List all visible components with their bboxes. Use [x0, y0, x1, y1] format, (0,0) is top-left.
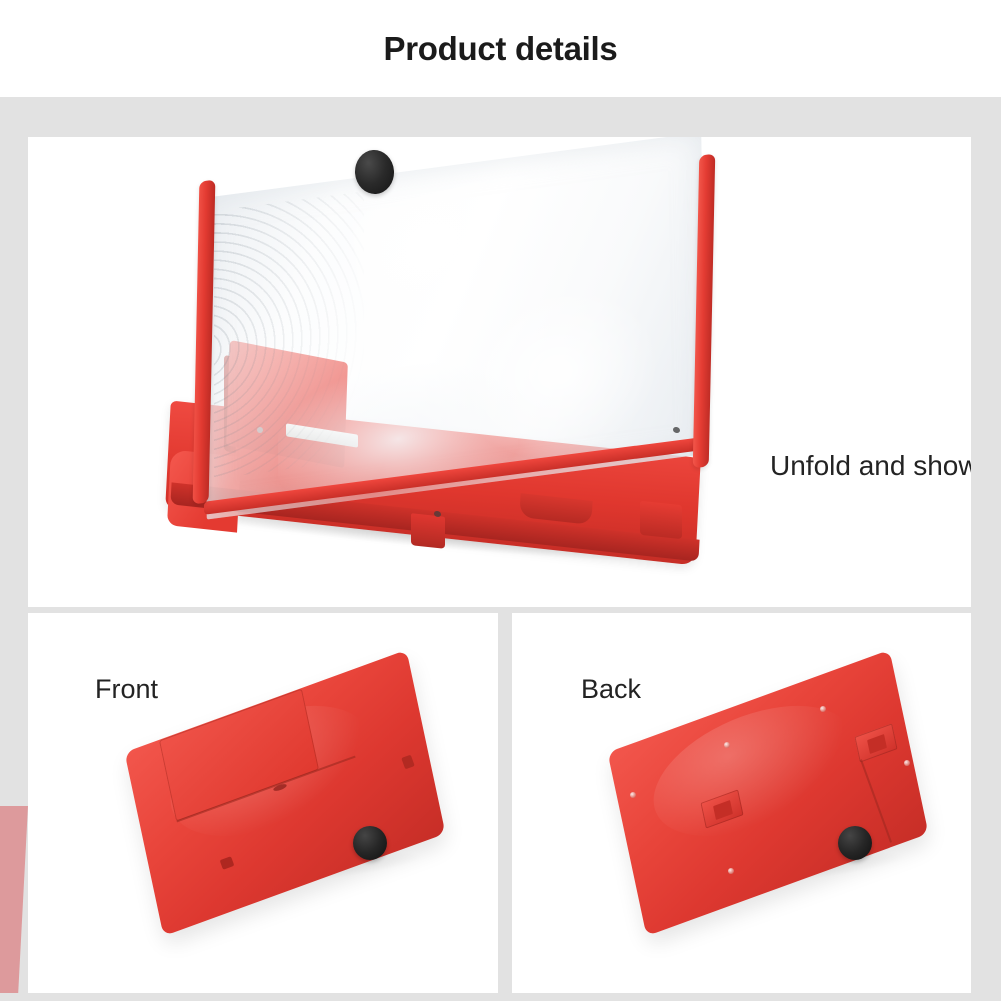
- product-image-unfolded: [28, 137, 971, 607]
- hinge-screw-right: [673, 427, 680, 434]
- panel-unfold-and-show[interactable]: Unfold and show: [28, 137, 971, 607]
- product-image-back: [618, 700, 918, 890]
- corner-screw: [728, 868, 734, 874]
- rubber-pad-icon: [838, 826, 872, 860]
- corner-screw: [724, 742, 730, 748]
- rubber-pad-icon: [353, 826, 387, 860]
- bottom-edge-strip: [0, 993, 1001, 1001]
- stand-foot-center: [411, 513, 445, 549]
- corner-screw: [820, 706, 826, 712]
- label-unfold-and-show: Unfold and show: [770, 450, 971, 482]
- pink-background-bleed: [0, 806, 28, 1001]
- corner-screw: [904, 760, 910, 766]
- stand-foot-right: [640, 501, 682, 539]
- page-title: Product details: [0, 30, 1001, 68]
- product-image-front: [135, 700, 435, 890]
- corner-screw: [630, 792, 636, 798]
- hinge-screw-center: [434, 511, 441, 518]
